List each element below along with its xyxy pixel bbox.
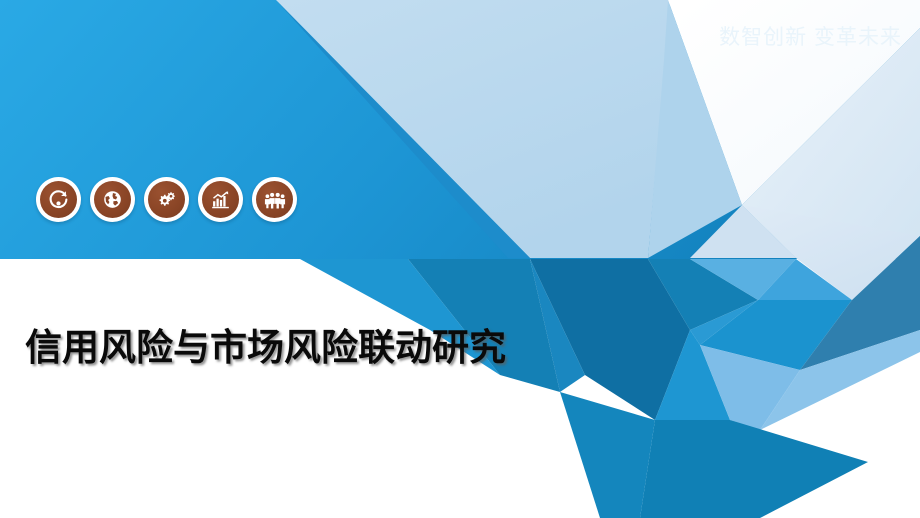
icon-badge-refresh-cycle[interactable] xyxy=(36,177,81,222)
slide-tagline: 数智创新 变革未来 xyxy=(719,25,902,50)
bar-chart-icon xyxy=(202,181,239,218)
icon-badge-globe[interactable] xyxy=(90,177,135,222)
icon-strip xyxy=(36,177,297,222)
background-artwork xyxy=(0,0,920,518)
icon-badge-bar-chart[interactable] xyxy=(198,177,243,222)
icon-badge-people-group[interactable] xyxy=(252,177,297,222)
poly-tail-edge xyxy=(560,392,655,518)
globe-icon xyxy=(94,181,131,218)
people-group-icon xyxy=(256,181,293,218)
page-title: 信用风险与市场风险联动研究 xyxy=(25,321,545,375)
gears-icon xyxy=(148,181,185,218)
poly-tail xyxy=(640,420,868,518)
refresh-cycle-icon xyxy=(40,181,77,218)
title-slide: 数智创新 变革未来 xyxy=(0,0,920,518)
icon-badge-gears[interactable] xyxy=(144,177,189,222)
